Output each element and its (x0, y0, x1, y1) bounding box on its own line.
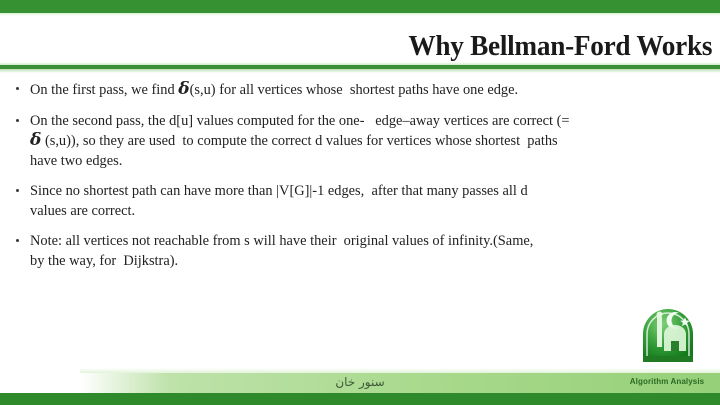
bullet-line: Note: all vertices not reachable from s … (30, 232, 706, 252)
list-item: Since no shortest path can have more tha… (0, 182, 720, 221)
bullet-text-pre: On the first pass, we find (30, 82, 178, 98)
slide-canvas: Why Bellman-Ford Works On the first pass… (0, 0, 720, 405)
bullet-line: Since no shortest path can have more tha… (30, 182, 706, 202)
bullet-line: On the second pass, the d[u] values comp… (30, 112, 706, 132)
bullet-line: δ (s,u)), so they are used to compute th… (30, 131, 706, 152)
title-area: Why Bellman-Ford Works (0, 16, 720, 62)
delta-symbol: δ (30, 130, 41, 150)
list-item: Note: all vertices not reachable from s … (0, 232, 720, 271)
bullet-text-pre: On the second pass, the d[u] values comp… (30, 113, 570, 129)
title-divider-shadow (0, 69, 720, 73)
bullet-line: values are correct. (30, 202, 706, 222)
bullet-dot-icon (16, 119, 19, 122)
slide-body: On the first pass, we find δ(s,u) for al… (0, 80, 720, 368)
bullet-text-pre: have two edges. (30, 153, 122, 169)
bullet-line: On the first pass, we find δ(s,u) for al… (30, 80, 706, 101)
title-divider (0, 62, 720, 73)
bullet-dot-icon (16, 87, 19, 90)
bullet-text-pre: values are correct. (30, 203, 135, 219)
course-title-label: Algorithm Analysis (614, 377, 720, 386)
bullet-text-post: (s,u) for all vertices whose shortest pa… (190, 82, 518, 98)
top-accent-bar (0, 0, 720, 13)
bullet-line: have two edges. (30, 152, 706, 172)
bullet-text-pre: Note: all vertices not reachable from s … (30, 233, 533, 249)
institution-emblem-icon (633, 300, 703, 370)
footer-accent-bar (0, 393, 720, 405)
footer-author-text: سنور خان (0, 375, 720, 389)
bullet-text-pre: Since no shortest path can have more tha… (30, 183, 528, 199)
bullet-line: by the way, for Dijkstra). (30, 252, 706, 272)
list-item: On the second pass, the d[u] values comp… (0, 112, 720, 172)
list-item: On the first pass, we find δ(s,u) for al… (0, 80, 720, 101)
bullet-text-pre: by the way, for Dijkstra). (30, 253, 178, 269)
bullet-list: On the first pass, we find δ(s,u) for al… (0, 80, 720, 271)
bullet-dot-icon (16, 189, 19, 192)
page-title: Why Bellman-Ford Works (408, 30, 712, 62)
bullet-dot-icon (16, 239, 19, 242)
delta-symbol: δ (178, 79, 189, 99)
bullet-text-post: (s,u)), so they are used to compute the … (41, 133, 557, 149)
